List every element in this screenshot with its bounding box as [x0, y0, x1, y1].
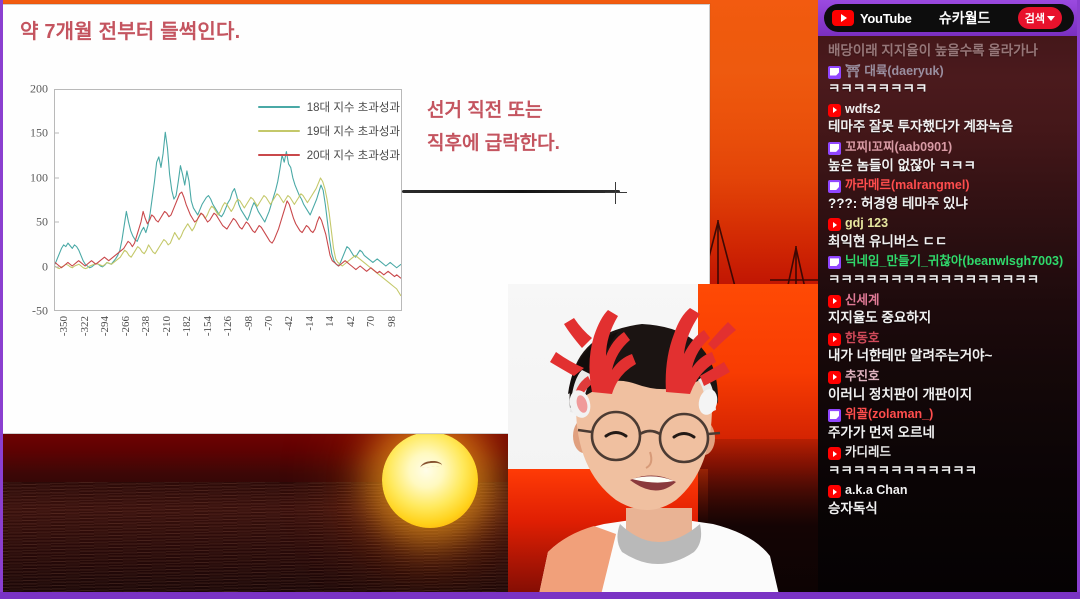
chat-message-list[interactable]: 배당이래 지지율이 높을수록 올라가나⛩ 대륙(daeryuk)ㅋㅋㅋㅋㅋㅋㅋㅋ… — [818, 36, 1080, 518]
chat-message[interactable]: a.k.a Chan승자독식 — [828, 483, 1072, 517]
chart-x-tick: -266 — [120, 316, 132, 336]
chat-author[interactable]: 추진호 — [828, 369, 1072, 385]
chart-x-tick: 14 — [324, 316, 336, 327]
chat-author[interactable]: a.k.a Chan — [828, 483, 1072, 499]
channel-name: 슈카월드 — [918, 8, 1012, 28]
stream-screenshot: 약 7개월 전부터 들썩인다. 200150100500-50 -350-322… — [0, 0, 1080, 599]
chat-message-text: 지지율도 중요하지 — [828, 309, 1072, 327]
legend-item: 20대 지수 초과성과 — [258, 147, 400, 163]
sun-icon — [382, 432, 478, 528]
chart-x-tick: -14 — [304, 316, 316, 331]
legend-color-swatch — [258, 154, 300, 156]
chat-author-name: 위꼴(zolaman_) — [845, 407, 933, 423]
chart-x-tick: -98 — [243, 316, 255, 331]
chart-x-tick: 70 — [365, 316, 377, 327]
search-button[interactable]: 검색 — [1018, 7, 1062, 29]
youtube-channel-pill[interactable]: YouTube 슈카월드 검색 — [824, 4, 1074, 32]
chevron-down-icon — [1047, 16, 1055, 21]
youtube-badge-icon — [828, 333, 841, 346]
chat-message-text: 최익현 유니버스 ㄷㄷ — [828, 233, 1072, 251]
chart-x-tick: -154 — [202, 316, 214, 336]
chart-legend: 18대 지수 초과성과19대 지수 초과성과20대 지수 초과성과 — [252, 95, 406, 167]
search-label: 검색 — [1025, 10, 1045, 26]
chat-message[interactable]: 까라메르(malrangmel)???: 허경영 테마주 있냐 — [828, 178, 1072, 212]
chat-message[interactable]: 닉네임_만들기_귀찮아(beanwlsgh7003)ㅋㅋㅋㅋㅋㅋㅋㅋㅋㅋㅋㅋㅋㅋ… — [828, 254, 1072, 288]
chat-message[interactable]: wdfs2테마주 잘못 투자했다가 계좌녹음 — [828, 102, 1072, 136]
youtube-badge-icon — [828, 295, 841, 308]
chat-author[interactable]: gdj 123 — [828, 216, 1072, 232]
chat-author-name: 신세계 — [845, 293, 880, 309]
chart-y-tick: 100 — [12, 170, 48, 185]
chart-x-tick: 98 — [386, 316, 398, 327]
chat-author[interactable]: 카디레드 — [828, 445, 1072, 461]
chart-y-tick: -50 — [12, 304, 48, 319]
chart-x-tick: 42 — [345, 316, 357, 327]
chat-author-name: a.k.a Chan — [845, 483, 908, 499]
webcam-overlay — [508, 284, 820, 599]
chat-author[interactable]: 위꼴(zolaman_) — [828, 407, 1072, 423]
legend-color-swatch — [258, 130, 300, 132]
chat-author[interactable]: 까라메르(malrangmel) — [828, 178, 1072, 194]
chat-message[interactable]: 위꼴(zolaman_)주가가 먼저 오르네 — [828, 407, 1072, 441]
chat-author[interactable]: 한동호 — [828, 331, 1072, 347]
youtube-badge-icon — [828, 371, 841, 384]
chart-x-tick: -322 — [79, 316, 91, 336]
chart-x-axis: -350-322-294-266-238-210-182-154-126-98-… — [54, 314, 402, 370]
youtube-badge-icon — [828, 447, 841, 460]
chat-panel[interactable]: YouTube 슈카월드 검색 배당이래 지지율이 높을수록 올라가나⛩ 대륙(… — [818, 0, 1080, 592]
chat-author[interactable]: 닉네임_만들기_귀찮아(beanwlsgh7003) — [828, 254, 1072, 270]
chat-author-name: 꼬찌l꼬찌(aab0901) — [845, 140, 952, 156]
chat-message-text: ㅋㅋㅋㅋㅋㅋㅋㅋㅋㅋㅋㅋㅋㅋㅋㅋㅋ — [828, 271, 1072, 289]
chat-message[interactable]: 꼬찌l꼬찌(aab0901)높은 놈들이 없잖아 ㅋㅋㅋ — [828, 140, 1072, 174]
chat-message-text: 높은 놈들이 없잖아 ㅋㅋㅋ — [828, 157, 1072, 175]
chart-x-tick: -70 — [263, 316, 275, 331]
chart-x-tick: -182 — [181, 316, 193, 336]
twitch-badge-icon — [828, 180, 841, 193]
platform-label: YouTube — [860, 11, 912, 26]
chat-message-text: ㅋㅋㅋㅋㅋㅋㅋㅋㅋㅋㅋㅋ — [828, 462, 1072, 480]
chat-message-text: 이러니 정치판이 개판이지 — [828, 386, 1072, 404]
chat-author-name: gdj 123 — [845, 216, 888, 232]
twitch-badge-icon — [828, 142, 841, 155]
slide-annotation: 선거 직전 또는 직후에 급락한다. — [427, 95, 560, 160]
twitch-badge-icon — [828, 256, 841, 269]
chat-author[interactable]: 신세계 — [828, 293, 1072, 309]
chat-message-text: 배당이래 지지율이 높을수록 올라가나 — [828, 42, 1072, 60]
chat-message-text: 승자독식 — [828, 500, 1072, 518]
chat-author-name: 추진호 — [845, 369, 880, 385]
chat-author-name: 한동호 — [845, 331, 880, 347]
chat-author-name: 까라메르(malrangmel) — [845, 178, 970, 194]
twitch-badge-icon — [828, 409, 841, 422]
chart: 200150100500-50 -350-322-294-266-238-210… — [12, 81, 412, 371]
legend-item: 19대 지수 초과성과 — [258, 123, 400, 139]
legend-label: 20대 지수 초과성과 — [307, 147, 400, 163]
annotation-line-1: 선거 직전 또는 — [427, 95, 560, 128]
annotation-underline — [402, 190, 620, 193]
chart-y-tick: 200 — [12, 82, 48, 97]
chat-message-text: 테마주 잘못 투자했다가 계좌녹음 — [828, 118, 1072, 136]
twitch-badge-icon — [828, 66, 841, 79]
chat-author-name: 카디레드 — [845, 445, 891, 461]
border-left — [0, 0, 3, 592]
chart-x-tick: -210 — [161, 316, 173, 336]
chart-y-tick: 150 — [12, 126, 48, 141]
chat-author-name: ⛩ 대륙(daeryuk) — [845, 64, 944, 80]
border-bottom — [0, 592, 1080, 599]
chat-message[interactable]: 카디레드ㅋㅋㅋㅋㅋㅋㅋㅋㅋㅋㅋㅋ — [828, 445, 1072, 479]
chart-y-tick-mark — [54, 177, 59, 178]
slide-title: 약 7개월 전부터 들썩인다. — [20, 15, 240, 44]
chart-y-tick: 50 — [12, 215, 48, 230]
chat-message-text: ???: 허경영 테마주 있냐 — [828, 195, 1072, 213]
chart-x-tick: -294 — [99, 316, 111, 336]
chart-line-2 — [55, 192, 401, 278]
chat-header: YouTube 슈카월드 검색 — [818, 0, 1080, 36]
chat-author-name: 닉네임_만들기_귀찮아(beanwlsgh7003) — [845, 254, 1063, 270]
legend-label: 18대 지수 초과성과 — [307, 99, 400, 115]
legend-color-swatch — [258, 106, 300, 108]
chat-message-text: 주가가 먼저 오르네 — [828, 424, 1072, 442]
chat-author[interactable]: ⛩ 대륙(daeryuk) — [828, 64, 1072, 80]
chat-message[interactable]: 배당이래 지지율이 높을수록 올라가나 — [828, 42, 1072, 60]
youtube-badge-icon — [828, 104, 841, 117]
chat-message[interactable]: 신세계지지율도 중요하지 — [828, 293, 1072, 327]
chat-author-name: wdfs2 — [845, 102, 880, 118]
chat-author[interactable]: wdfs2 — [828, 102, 1072, 118]
crosshair-cursor-icon — [605, 182, 627, 204]
chat-message-text: ㅋㅋㅋㅋㅋㅋㅋㅋ — [828, 80, 1072, 98]
chart-y-tick-mark — [54, 222, 59, 223]
youtube-play-icon — [832, 10, 854, 26]
legend-item: 18대 지수 초과성과 — [258, 99, 400, 115]
chart-x-tick: -126 — [222, 316, 234, 336]
chart-y-tick: 0 — [12, 259, 48, 274]
streamer-avatar — [508, 284, 820, 599]
chat-message[interactable]: 추진호이러니 정치판이 개판이지 — [828, 369, 1072, 403]
chat-author[interactable]: 꼬찌l꼬찌(aab0901) — [828, 140, 1072, 156]
chart-y-tick-mark — [54, 266, 59, 267]
chart-x-tick: -350 — [58, 316, 70, 336]
chat-message[interactable]: 한동호내가 너한테만 알려주는거야~ — [828, 331, 1072, 365]
chat-message[interactable]: ⛩ 대륙(daeryuk)ㅋㅋㅋㅋㅋㅋㅋㅋ — [828, 64, 1072, 98]
chart-line-1 — [55, 178, 401, 296]
youtube-badge-icon — [828, 485, 841, 498]
chat-message[interactable]: gdj 123최익현 유니버스 ㄷㄷ — [828, 216, 1072, 250]
chart-x-tick: -42 — [283, 316, 295, 331]
legend-label: 19대 지수 초과성과 — [307, 123, 400, 139]
chat-message-text: 내가 너한테만 알려주는거야~ — [828, 347, 1072, 365]
chart-y-tick-mark — [54, 133, 59, 134]
annotation-line-2: 직후에 급락한다. — [427, 128, 560, 161]
chart-x-tick: -238 — [140, 316, 152, 336]
youtube-badge-icon — [828, 218, 841, 231]
